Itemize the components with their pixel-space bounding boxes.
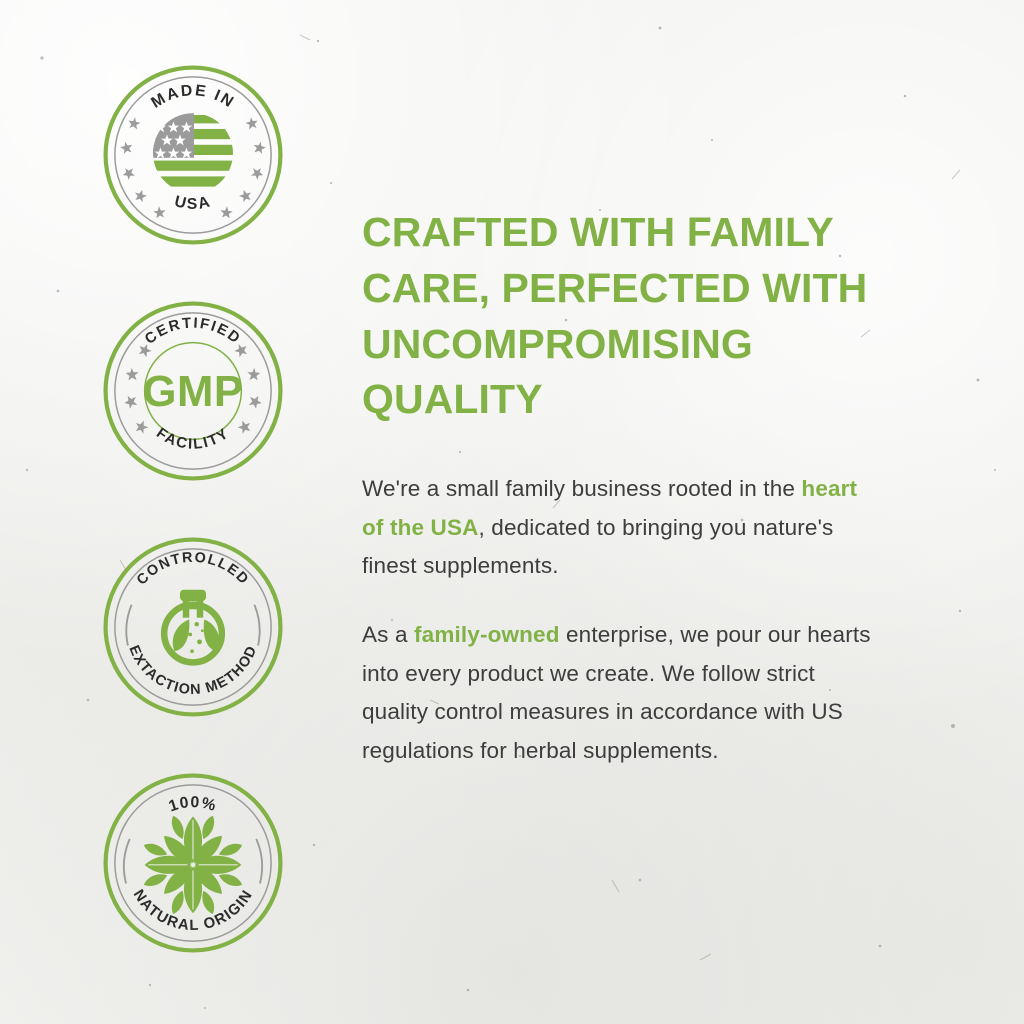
badge-right-arc [256,839,262,884]
badge-bottom-label: USA [173,193,214,213]
paragraph-2-accent: family-owned [414,622,560,647]
badge-natural-origin: 100% NATURAL ORIGIN [100,770,286,956]
leaf-rosette-icon [142,814,244,916]
badge-right-arc [254,605,259,646]
paragraph-1-text-before: We're a small family business rooted in … [362,476,801,501]
intro-paragraph: We're a small family business rooted in … [362,470,882,586]
quality-paragraph: As a family-owned enterprise, we pour ou… [362,616,882,771]
usa-flag-circle-icon [153,113,233,193]
headline-line-1: CRAFTED WITH FAMILY [362,205,962,261]
badge-inner-ring [115,549,271,705]
trust-badge-column: MADE IN USA [100,62,286,1006]
flask-leaf-icon [164,590,222,663]
badge-gmp-text: GMP [143,367,244,416]
content-column: CRAFTED WITH FAMILY CARE, PERFECTED WITH… [362,205,962,771]
headline-line-2: CARE, PERFECTED WITH [362,261,962,317]
badge-top-label: CONTROLLED [134,550,252,589]
badge-bottom-label: FACILITY [153,425,233,453]
badge-left-arc [124,839,130,884]
badge-controlled-extaction-method: CONTROLLED EXTACTION METHOD [100,534,286,720]
badge-made-in-usa: MADE IN USA [100,62,286,248]
badge-left-arc [126,605,131,646]
headline-line-4: QUALITY [362,372,962,428]
badge-top-label: 100% [167,794,219,815]
headline-line-3: UNCOMPROMISING [362,317,962,373]
page-title: CRAFTED WITH FAMILY CARE, PERFECTED WITH… [362,205,962,428]
paragraph-2-text-before: As a [362,622,414,647]
badge-gmp-certified-facility: GMP CERTIFIED FACILITY [100,298,286,484]
badge-top-label: MADE IN [148,82,237,112]
